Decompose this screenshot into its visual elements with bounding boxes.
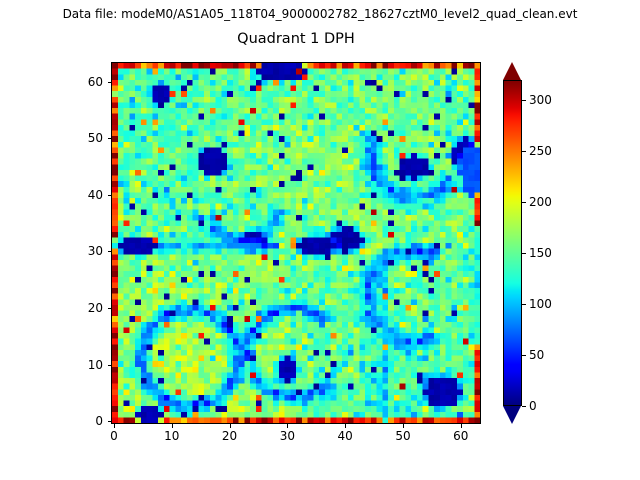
colorbar-extend-bottom-arrow [503, 406, 521, 424]
x-tick-mark [287, 424, 288, 428]
colorbar-tick-mark [522, 202, 526, 203]
figure-canvas: Data file: modeM0/AS1A05_118T04_90000027… [0, 0, 640, 480]
x-tick-mark [172, 424, 173, 428]
y-tick-label: 0 [0, 414, 103, 428]
colorbar-tick-label: 50 [529, 348, 544, 362]
y-tick-label: 20 [0, 301, 103, 315]
colorbar-tick-mark [522, 304, 526, 305]
colorbar-tick-label: 300 [529, 93, 552, 107]
colorbar-tick-mark [522, 406, 526, 407]
colorbar-tick-mark [522, 100, 526, 101]
x-tick-mark [230, 424, 231, 428]
y-tick-label: 60 [0, 75, 103, 89]
colorbar-tick-label: 200 [529, 195, 552, 209]
y-tick-mark [108, 138, 112, 139]
colorbar-gradient [504, 81, 521, 405]
colorbar-tick-mark [522, 253, 526, 254]
y-tick-mark [108, 365, 112, 366]
x-tick-label: 60 [453, 429, 468, 443]
colorbar-extend-top-arrow [503, 62, 521, 80]
colorbar-tick-label: 150 [529, 246, 552, 260]
heatmap-image[interactable] [112, 63, 480, 423]
colorbar-body[interactable] [503, 80, 522, 406]
heatmap-axes[interactable] [111, 62, 481, 424]
x-tick-mark [114, 424, 115, 428]
x-tick-label: 0 [110, 429, 118, 443]
x-tick-label: 10 [164, 429, 179, 443]
x-tick-label: 20 [222, 429, 237, 443]
colorbar[interactable]: 050100150200250300 [503, 62, 522, 424]
y-tick-mark [108, 195, 112, 196]
colorbar-tick-mark [522, 355, 526, 356]
y-tick-mark [108, 82, 112, 83]
x-tick-label: 30 [280, 429, 295, 443]
colorbar-tick-label: 250 [529, 144, 552, 158]
y-tick-label: 30 [0, 244, 103, 258]
x-tick-mark [403, 424, 404, 428]
y-tick-mark [108, 251, 112, 252]
page-title: Quadrant 1 DPH [111, 31, 481, 47]
colorbar-tick-mark [522, 151, 526, 152]
y-tick-mark [108, 308, 112, 309]
x-tick-mark [345, 424, 346, 428]
colorbar-tick-label: 0 [529, 399, 537, 413]
x-tick-label: 50 [395, 429, 410, 443]
colorbar-tick-label: 100 [529, 297, 552, 311]
y-tick-label: 50 [0, 131, 103, 145]
y-tick-label: 40 [0, 188, 103, 202]
y-tick-mark [108, 421, 112, 422]
figure-suptitle: Data file: modeM0/AS1A05_118T04_90000027… [0, 7, 640, 21]
x-tick-mark [461, 424, 462, 428]
y-tick-label: 10 [0, 358, 103, 372]
x-tick-label: 40 [338, 429, 353, 443]
